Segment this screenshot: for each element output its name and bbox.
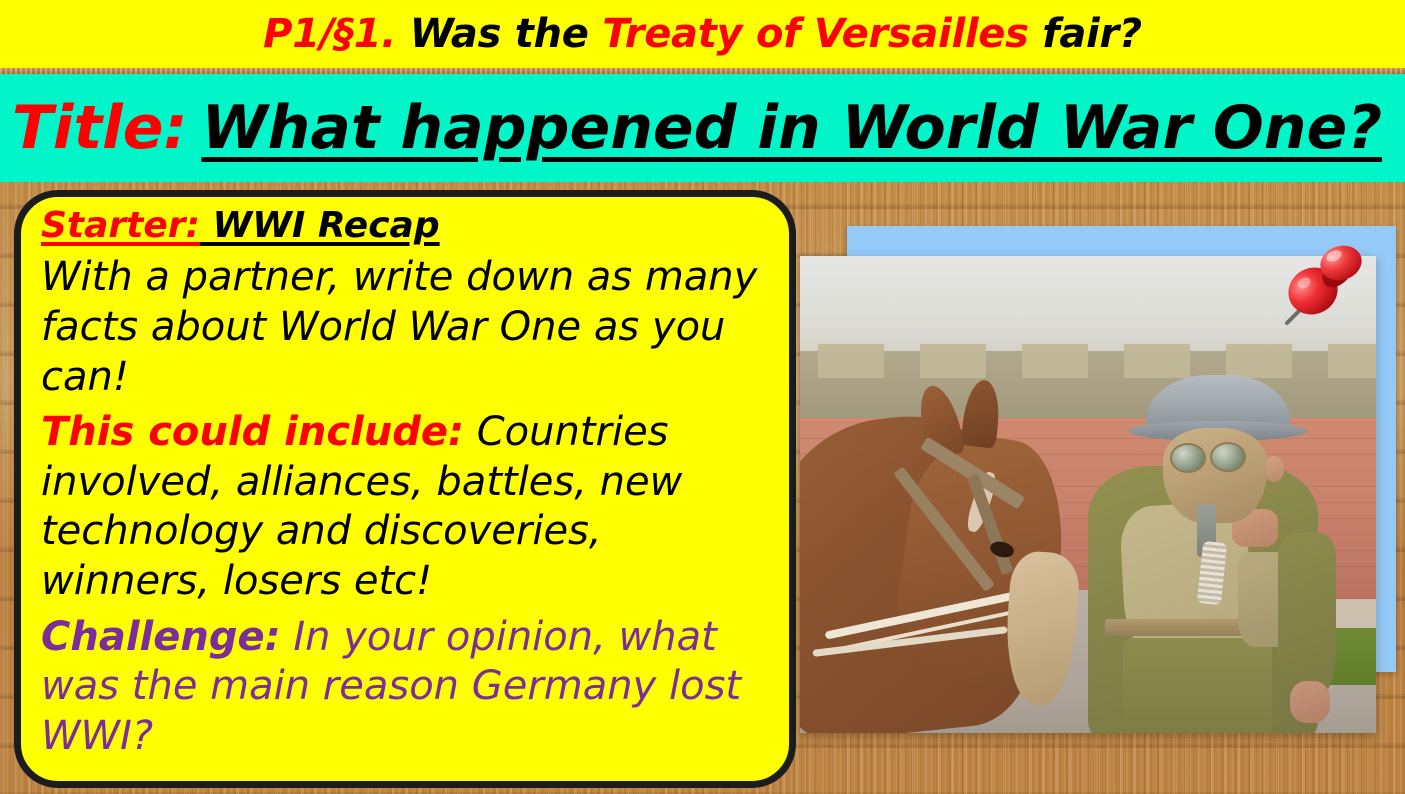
banner-highlight-text: Treaty of Versailles [602, 11, 1028, 57]
title-main-text: What happened in World War One? [201, 93, 1382, 163]
photo-wall-copings [800, 344, 1376, 377]
banner-section-number: P1/§1. [263, 11, 396, 57]
starter-topic: WWI Recap [200, 205, 440, 246]
gas-mask-lens-right [1210, 442, 1246, 472]
banner-suffix-text: fair? [1029, 11, 1142, 57]
banner-mid-text: Was the [396, 11, 602, 57]
soldier-tunic-skirt [1123, 638, 1273, 733]
starter-heading: Starter: WWI Recap [41, 205, 773, 247]
pushpin-icon [1279, 239, 1375, 335]
title-heading: Title:What happened in World War One? [12, 98, 1382, 158]
starter-label: Starter: [41, 205, 200, 246]
slide-canvas: P1/§1. Was the Treaty of Versailles fair… [0, 0, 1405, 794]
title-label: Title: [12, 93, 187, 163]
starter-instruction: With a partner, write down as many facts… [41, 253, 773, 402]
lesson-banner: P1/§1. Was the Treaty of Versailles fair… [0, 0, 1405, 68]
title-band: Title:What happened in World War One? [0, 74, 1405, 182]
challenge-label: Challenge: [41, 614, 281, 660]
starter-task-box: Starter: WWI Recap With a partner, write… [14, 190, 796, 788]
include-label: This could include: [41, 409, 464, 455]
starter-include-paragraph: This could include: Countries involved, … [41, 408, 773, 606]
banner-heading: P1/§1. Was the Treaty of Versailles fair… [263, 14, 1142, 54]
starter-challenge-paragraph: Challenge: In your opinion, what was the… [41, 613, 773, 762]
gas-mask-lens-left [1170, 443, 1206, 473]
soldier-arm [1278, 533, 1336, 695]
soldier-hand [1290, 681, 1330, 724]
red-pushpin [1279, 239, 1375, 335]
